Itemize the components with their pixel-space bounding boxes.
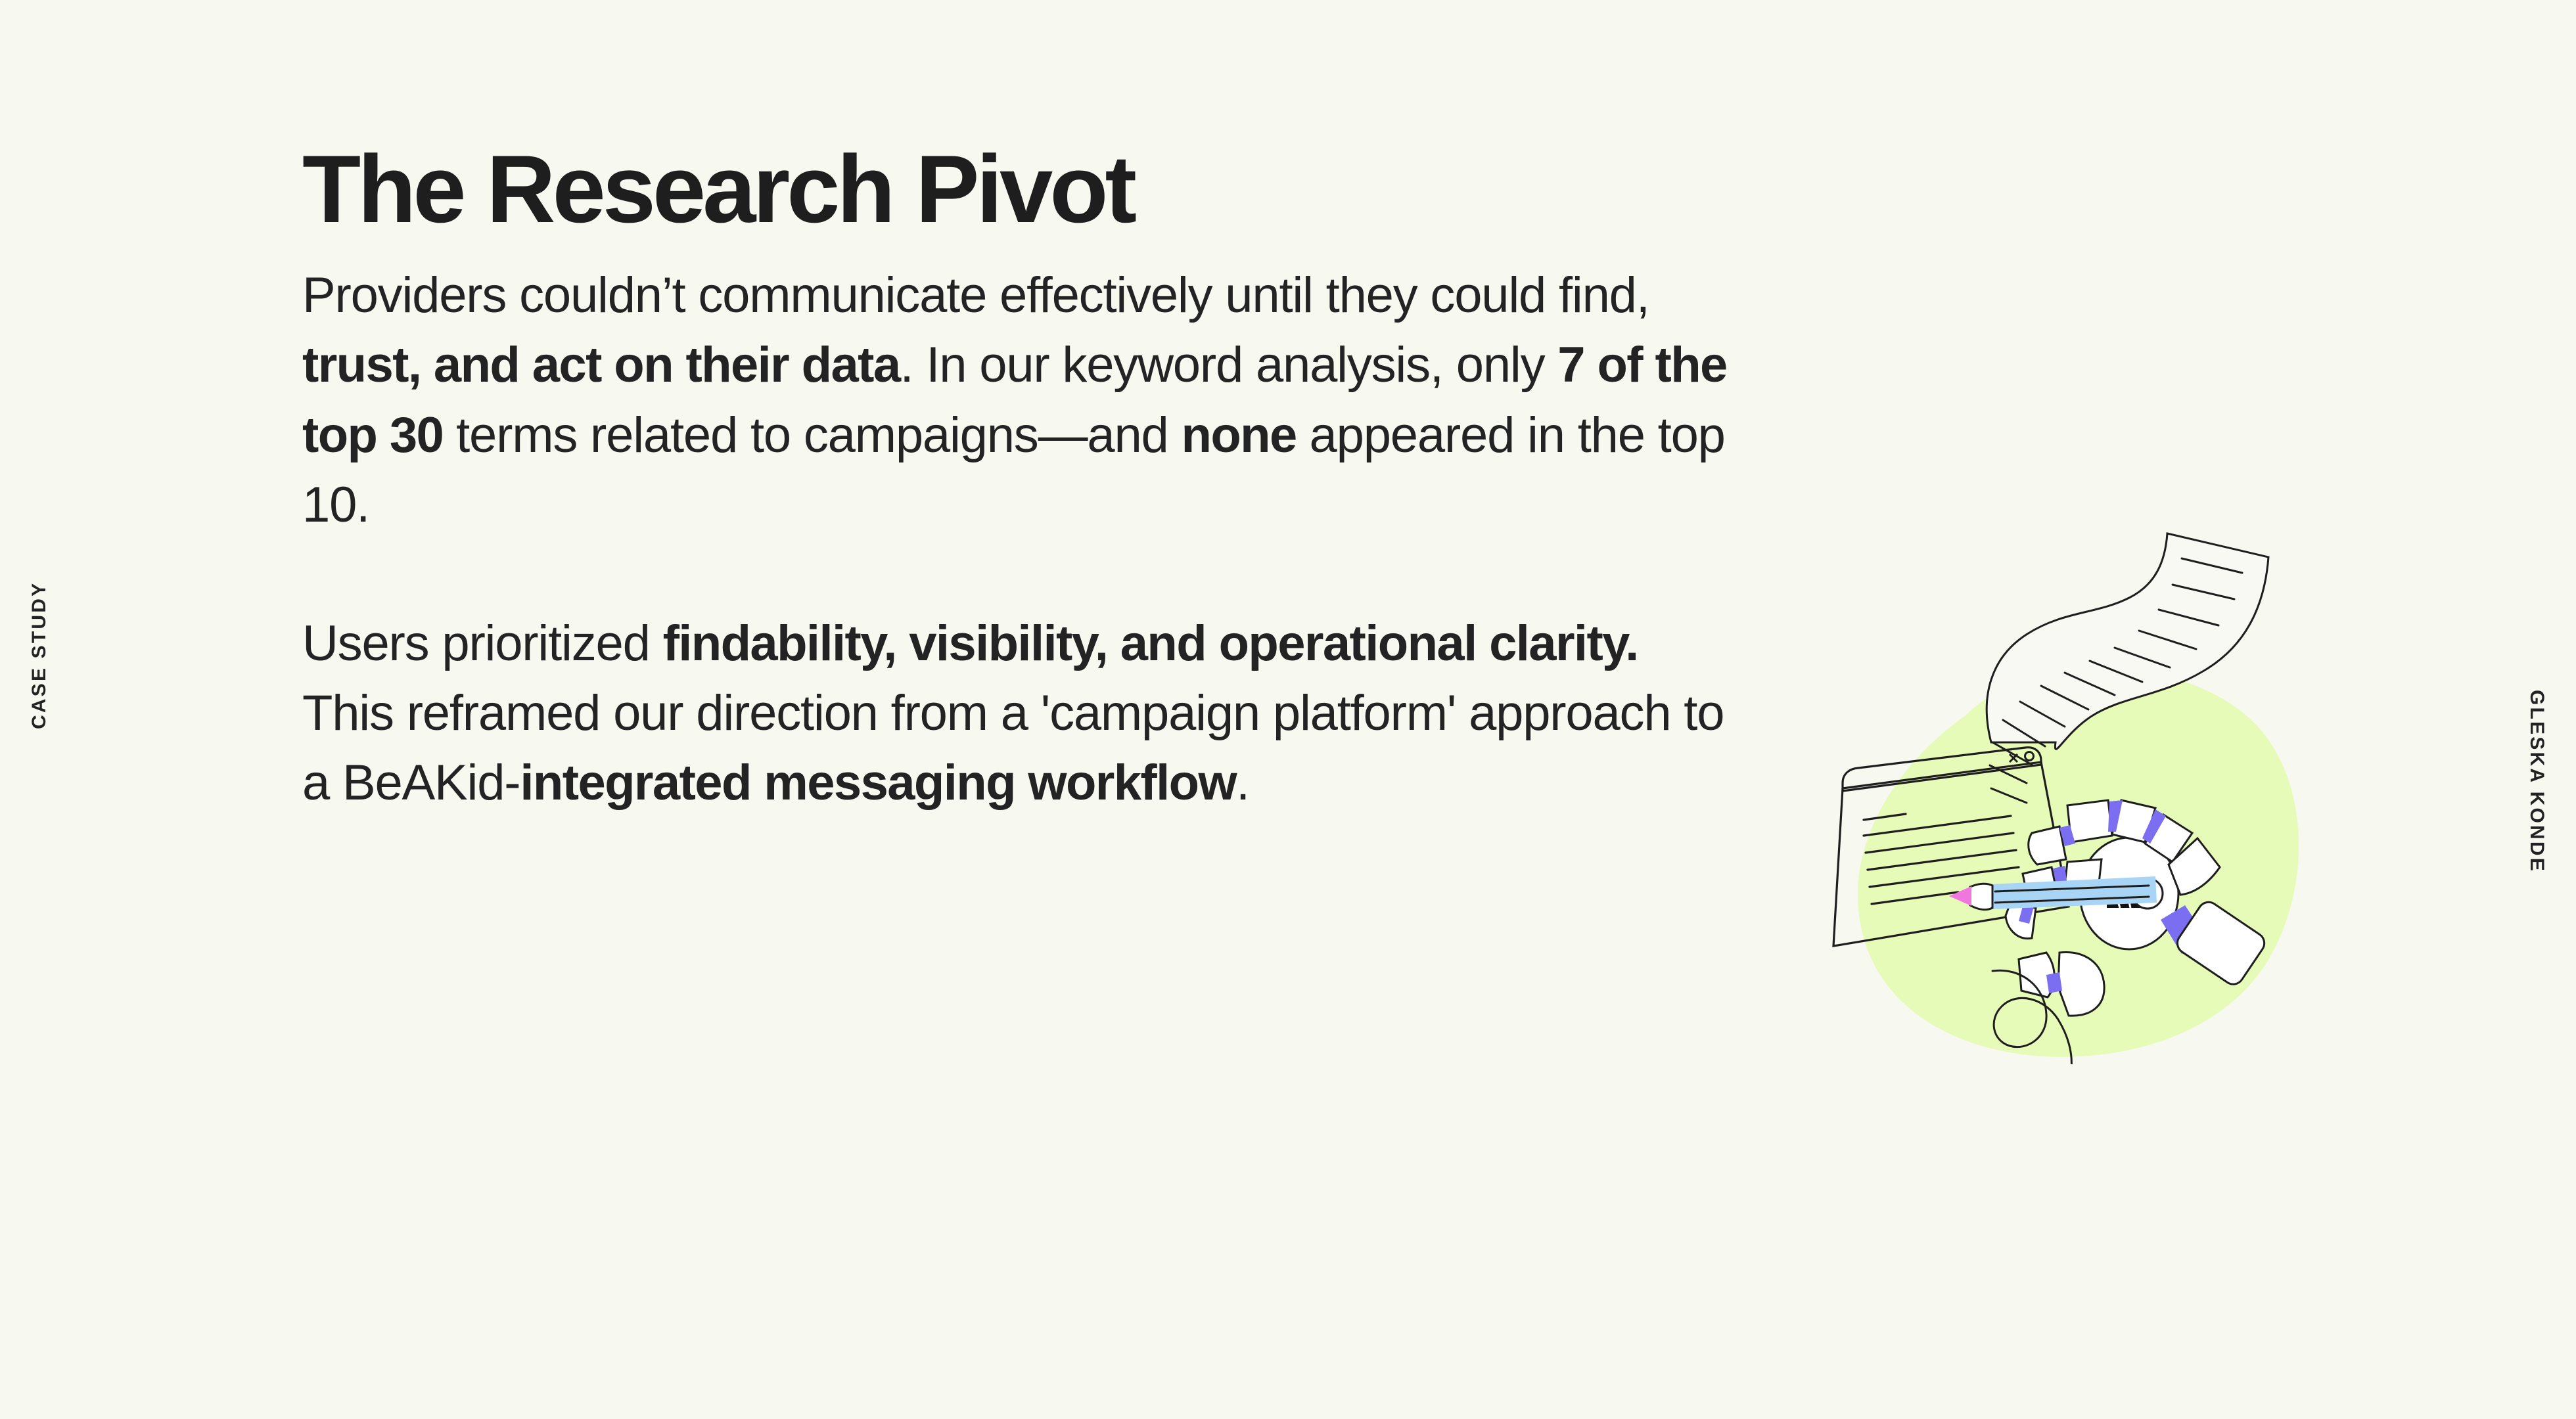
para2-emphasis-findability: findability, visibility, and operational… [663, 616, 1638, 671]
para2-emphasis-integrated-workflow: integrated messaging workflow [520, 755, 1236, 811]
para1-emphasis-none: none [1182, 407, 1297, 463]
para1-run5: terms related to campaigns—and [443, 407, 1181, 463]
para1-emphasis-trust: trust, and act on their data [302, 337, 900, 393]
case-study-label: CASE STUDY [28, 690, 51, 729]
page-title: The Research Pivot [302, 141, 1735, 237]
robot-hand-writing-illustration [1801, 499, 2326, 1064]
para2-run1: Users prioritized [302, 616, 663, 671]
para1-run1: Providers couldn’t communicate effective… [302, 267, 1649, 323]
pencil-wood [1970, 884, 1992, 909]
para2-run5: . [1236, 755, 1249, 811]
body-paragraph-2: Users prioritized findability, visibilit… [302, 609, 1735, 819]
brand-label: GLESKA KONDE [2525, 690, 2548, 729]
slide-canvas: CASE STUDY GLESKA KONDE The Research Piv… [0, 0, 2576, 1419]
text-column: The Research Pivot Providers couldn’t co… [302, 141, 1735, 819]
body-paragraph-1: Providers couldn’t communicate effective… [302, 261, 1735, 541]
para1-run3: . In our keyword analysis, only [900, 337, 1558, 393]
